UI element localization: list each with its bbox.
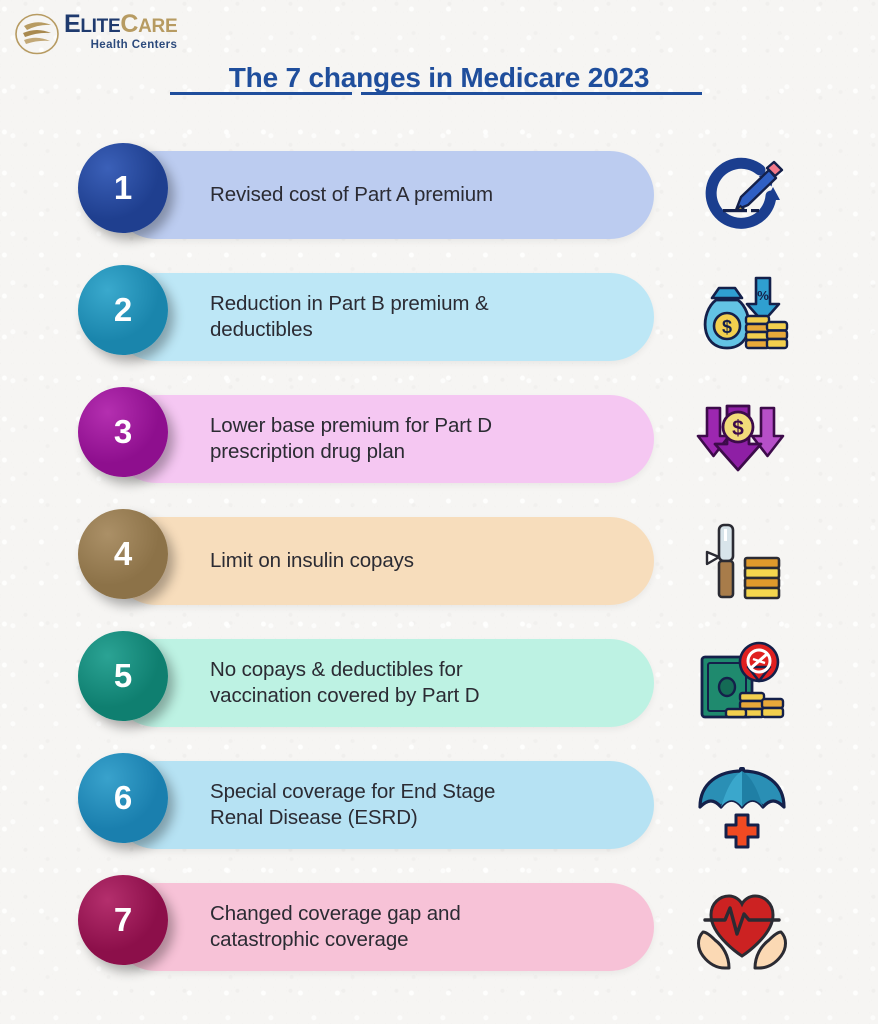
change-bar[interactable]: Limit on insulin copays bbox=[112, 517, 654, 605]
banknote-coins-no-syringe-icon bbox=[686, 635, 798, 731]
brand-name-e: E bbox=[64, 10, 80, 38]
brand-name: ELITECARE bbox=[64, 12, 177, 37]
change-number: 3 bbox=[114, 413, 132, 451]
change-label-line1: Changed coverage gap and bbox=[210, 902, 461, 925]
change-row: Limit on insulin copays4 bbox=[0, 509, 878, 613]
change-row: Changed coverage gap andcatastrophic cov… bbox=[0, 875, 878, 979]
change-bar[interactable]: No copays & deductibles forvaccination c… bbox=[112, 639, 654, 727]
change-number-badge: 1 bbox=[78, 143, 168, 233]
page-title-wrap: The 7 changes in Medicare 2023 bbox=[0, 62, 878, 102]
change-row: Special coverage for End StageRenal Dise… bbox=[0, 753, 878, 857]
change-label-line1: Reduction in Part B premium & bbox=[210, 292, 489, 315]
change-bar[interactable]: Lower base premium for Part Dprescriptio… bbox=[112, 395, 654, 483]
change-number-badge: 3 bbox=[78, 387, 168, 477]
umbrella-medical-cross-icon bbox=[686, 757, 798, 853]
change-number: 4 bbox=[114, 535, 132, 573]
change-row: Lower base premium for Part Dprescriptio… bbox=[0, 387, 878, 491]
change-number-badge: 6 bbox=[78, 753, 168, 843]
change-label-line1: No copays & deductibles for bbox=[210, 658, 463, 681]
change-label: Changed coverage gap andcatastrophic cov… bbox=[112, 901, 485, 953]
change-bar[interactable]: Special coverage for End StageRenal Dise… bbox=[112, 761, 654, 849]
title-underline-left bbox=[170, 92, 352, 95]
change-number-badge: 7 bbox=[78, 875, 168, 965]
change-number: 2 bbox=[114, 291, 132, 329]
change-label: Reduction in Part B premium &deductibles bbox=[112, 291, 513, 343]
change-label-line2: prescription drug plan bbox=[210, 439, 492, 465]
change-label: Revised cost of Part A premium bbox=[112, 182, 517, 208]
change-bar[interactable]: Reduction in Part B premium &deductibles bbox=[112, 273, 654, 361]
brand-name-c: C bbox=[120, 10, 138, 38]
title-underline bbox=[170, 92, 702, 95]
change-number-badge: 5 bbox=[78, 631, 168, 721]
title-underline-gap bbox=[352, 92, 361, 95]
brand-wordmark: ELITECARE Health Centers bbox=[64, 12, 177, 52]
change-label-line2: vaccination covered by Part D bbox=[210, 683, 479, 709]
svg-text:$: $ bbox=[722, 317, 732, 337]
title-underline-right bbox=[361, 92, 702, 95]
change-label-line2: deductibles bbox=[210, 317, 489, 343]
change-number: 6 bbox=[114, 779, 132, 817]
three-down-arrows-dollar-coin-icon: $ bbox=[686, 391, 798, 487]
revise-pencil-refresh-icon bbox=[686, 147, 798, 243]
change-bar[interactable]: Changed coverage gap andcatastrophic cov… bbox=[112, 883, 654, 971]
svg-text:$: $ bbox=[732, 417, 744, 440]
change-number: 5 bbox=[114, 657, 132, 695]
change-label-line1: Limit on insulin copays bbox=[210, 549, 414, 572]
brand-name-lite: LITE bbox=[80, 16, 120, 37]
svg-text:%: % bbox=[757, 288, 769, 303]
change-label: Special coverage for End StageRenal Dise… bbox=[112, 779, 519, 831]
change-row: Reduction in Part B premium &deductibles… bbox=[0, 265, 878, 369]
brand-name-are: ARE bbox=[138, 16, 177, 37]
brand-logo: ELITECARE Health Centers bbox=[14, 12, 177, 60]
changes-list: Revised cost of Part A premium1 Reductio… bbox=[0, 143, 878, 997]
hands-holding-heart-pulse-icon bbox=[686, 879, 798, 975]
change-row: No copays & deductibles forvaccination c… bbox=[0, 631, 878, 735]
change-number: 7 bbox=[114, 901, 132, 939]
change-row: Revised cost of Part A premium1 bbox=[0, 143, 878, 247]
change-label-line1: Revised cost of Part A premium bbox=[210, 183, 493, 206]
infographic-page: ELITECARE Health Centers The 7 changes i… bbox=[0, 0, 878, 1024]
insulin-syringe-coins-icon bbox=[686, 513, 798, 609]
ellipse-swirl-logo-icon bbox=[14, 13, 60, 62]
money-bag-coins-down-arrow-percent-icon: % $ bbox=[686, 269, 798, 365]
change-label-line2: Renal Disease (ESRD) bbox=[210, 805, 495, 831]
change-number-badge: 4 bbox=[78, 509, 168, 599]
change-number: 1 bbox=[114, 169, 132, 207]
brand-tagline: Health Centers bbox=[91, 40, 178, 52]
change-label: No copays & deductibles forvaccination c… bbox=[112, 657, 503, 709]
change-label-line2: catastrophic coverage bbox=[210, 927, 461, 953]
change-number-badge: 2 bbox=[78, 265, 168, 355]
change-bar[interactable]: Revised cost of Part A premium bbox=[112, 151, 654, 239]
change-label-line1: Special coverage for End Stage bbox=[210, 780, 495, 803]
change-label: Lower base premium for Part Dprescriptio… bbox=[112, 413, 516, 465]
change-label-line1: Lower base premium for Part D bbox=[210, 414, 492, 437]
page-title: The 7 changes in Medicare 2023 bbox=[223, 62, 655, 102]
